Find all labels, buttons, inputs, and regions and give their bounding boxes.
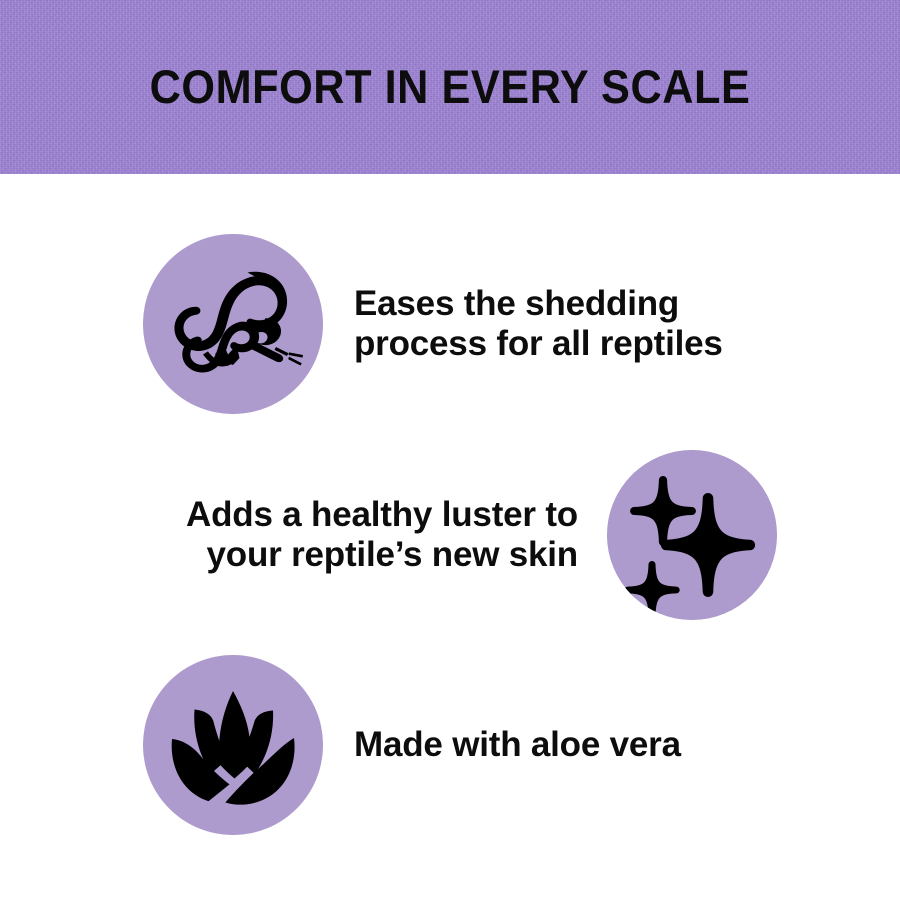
page-title: COMFORT IN EVERY SCALE [36,62,864,112]
feature-label-shedding: Eases the shedding process for all repti… [354,284,723,364]
sparkles-icon [607,450,777,620]
infographic-card: COMFORT IN EVERY SCALE Eases the sheddin… [0,0,900,900]
feature-label-luster: Adds a healthy luster to your reptile’s … [186,495,578,575]
snake-icon [143,234,323,414]
feature-label-aloe: Made with aloe vera [354,725,681,765]
feature-row-luster: Adds a healthy luster to your reptile’s … [110,450,777,620]
feature-row-shedding: Eases the shedding process for all repti… [143,234,803,414]
header-banner: COMFORT IN EVERY SCALE [0,0,900,174]
feature-row-aloe: Made with aloe vera [143,655,763,835]
aloe-plant-icon [143,655,323,835]
